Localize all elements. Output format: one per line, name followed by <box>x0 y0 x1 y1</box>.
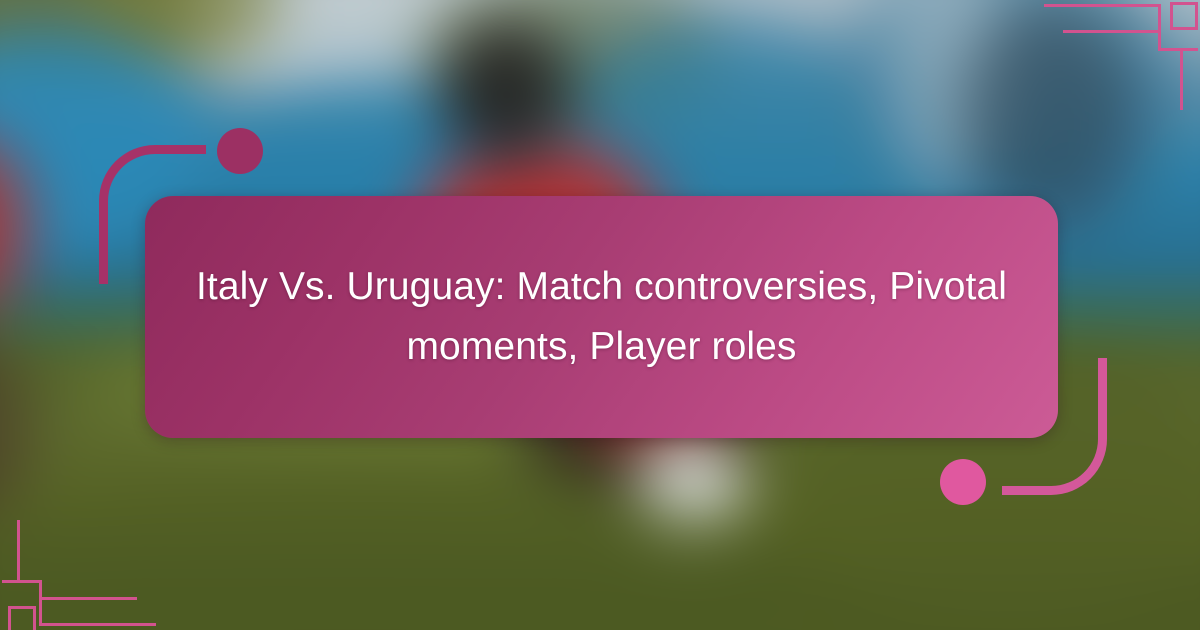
frame-box-top-right <box>1170 2 1198 30</box>
frame-line-bottom-left-drop-vertical <box>17 520 20 582</box>
background-player-head <box>440 20 570 160</box>
frame-line-top-right-outer-vertical <box>1158 4 1161 50</box>
frame-line-bottom-left-outer-horizontal <box>39 623 156 626</box>
social-share-card: Italy Vs. Uruguay: Match controversies, … <box>0 0 1200 630</box>
frame-line-top-right-link-horizontal <box>1158 48 1198 51</box>
frame-line-top-right-outer-horizontal <box>1044 4 1161 7</box>
dot-bottom-right <box>940 459 986 505</box>
frame-line-bottom-left-inner-horizontal <box>39 597 137 600</box>
title-card: Italy Vs. Uruguay: Match controversies, … <box>145 196 1058 438</box>
frame-line-bottom-left-link-horizontal <box>2 580 42 583</box>
frame-box-bottom-left <box>8 606 36 630</box>
dot-top-left <box>217 128 263 174</box>
frame-line-bottom-left-outer-vertical <box>39 580 42 626</box>
frame-line-top-right-inner-horizontal <box>1063 30 1161 33</box>
page-title: Italy Vs. Uruguay: Match controversies, … <box>191 257 1012 378</box>
frame-line-top-right-drop-vertical <box>1180 48 1183 110</box>
